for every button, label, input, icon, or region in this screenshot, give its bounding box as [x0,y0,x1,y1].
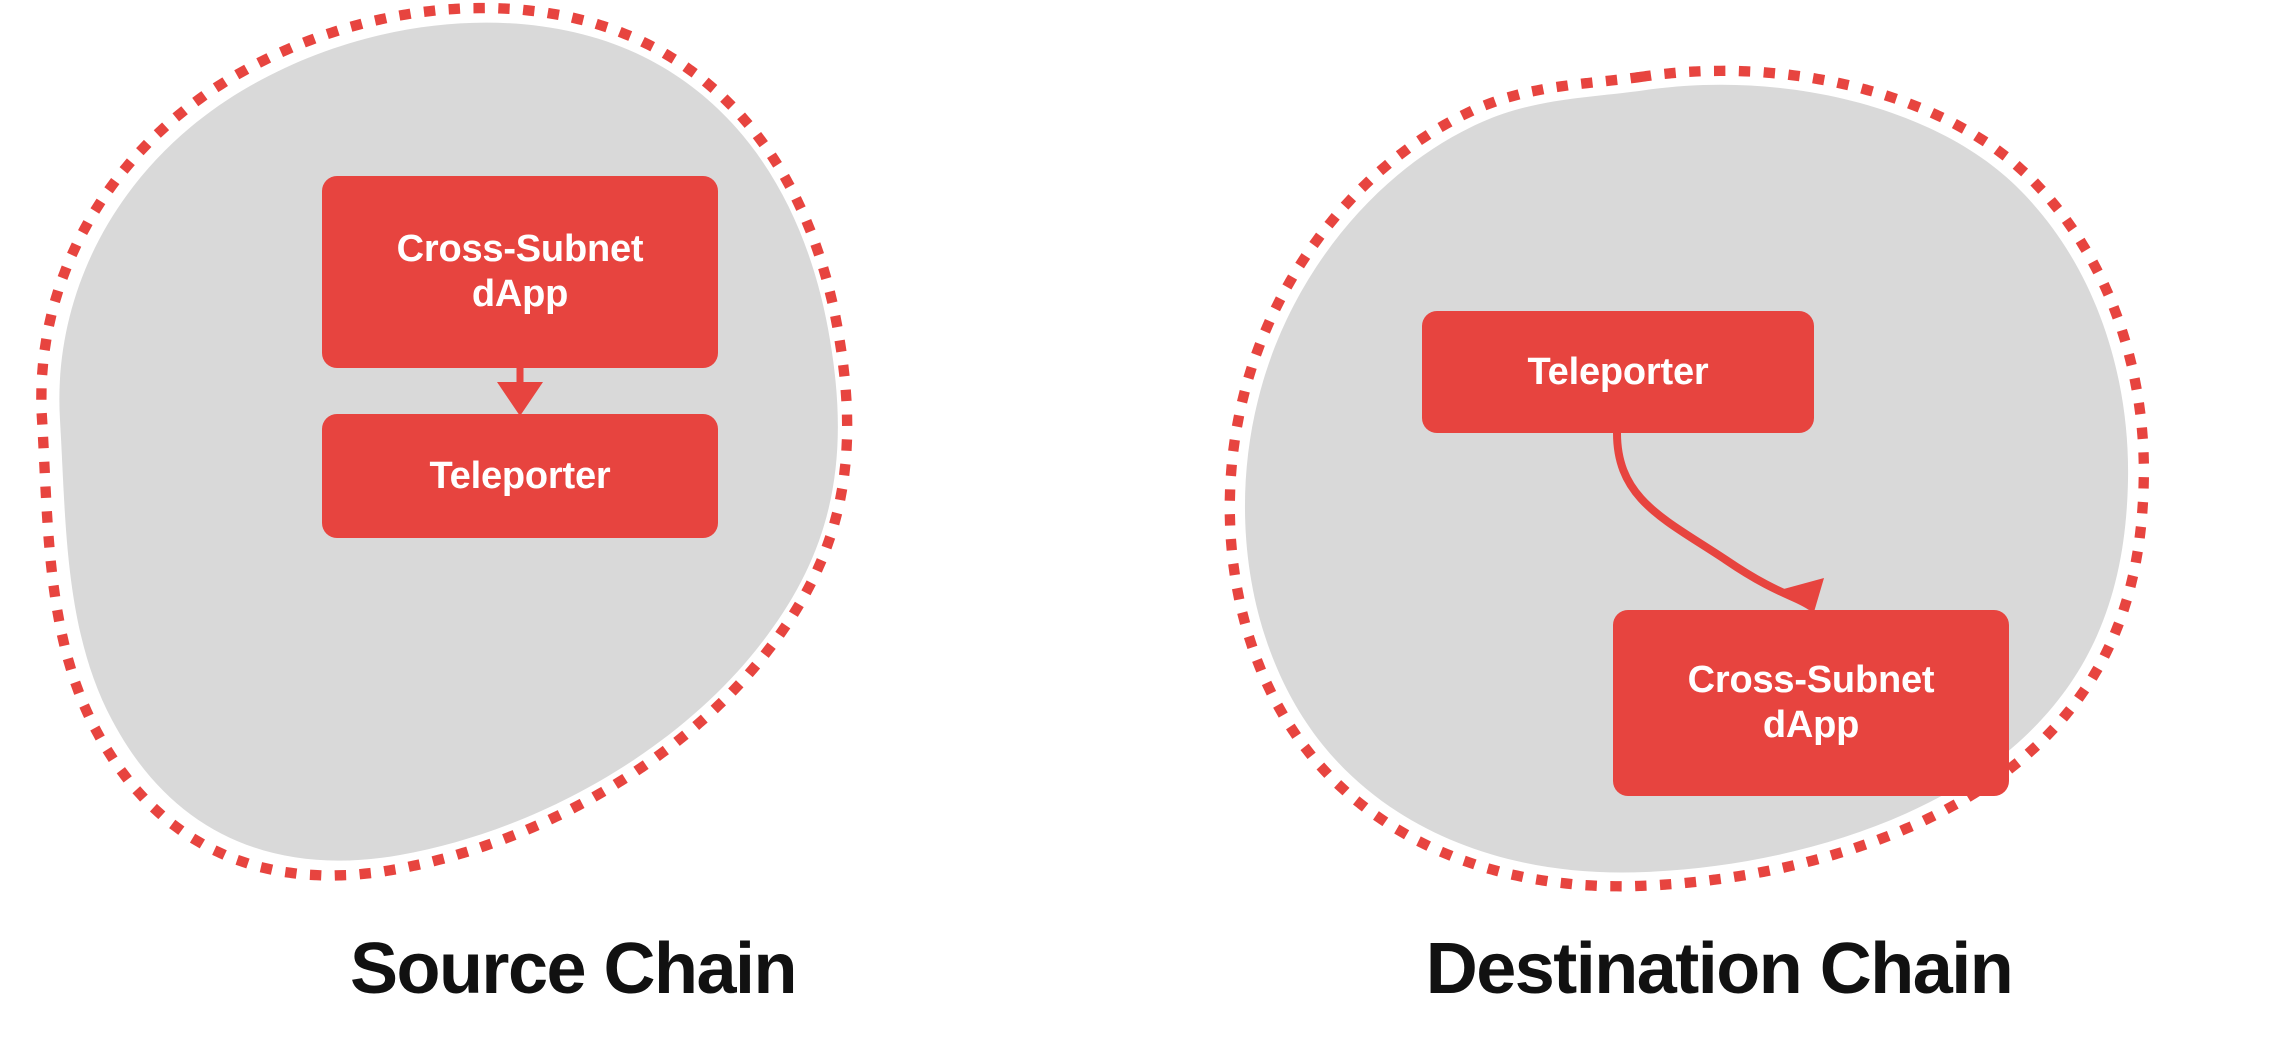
destination-chain-blob [1146,0,2292,1054]
destination-chain-panel: Teleporter Cross-Subnet dApp Destination… [1146,0,2292,1054]
diagram-canvas: Cross-Subnet dApp Teleporter Source Chai… [0,0,2292,1054]
node-teleporter-destination[interactable]: Teleporter [1422,311,1814,433]
source-chain-label: Source Chain [0,928,1146,1010]
node-label: Teleporter [1527,350,1708,395]
destination-chain-label: Destination Chain [1146,928,2292,1010]
node-cross-subnet-dapp-destination[interactable]: Cross-Subnet dApp [1613,610,2009,796]
node-teleporter-source[interactable]: Teleporter [322,414,718,538]
node-cross-subnet-dapp-source[interactable]: Cross-Subnet dApp [322,176,718,368]
node-label: Teleporter [429,454,610,499]
node-label: Cross-Subnet dApp [397,227,644,317]
source-chain-panel: Cross-Subnet dApp Teleporter Source Chai… [0,0,1146,1054]
node-label: Cross-Subnet dApp [1688,658,1935,748]
